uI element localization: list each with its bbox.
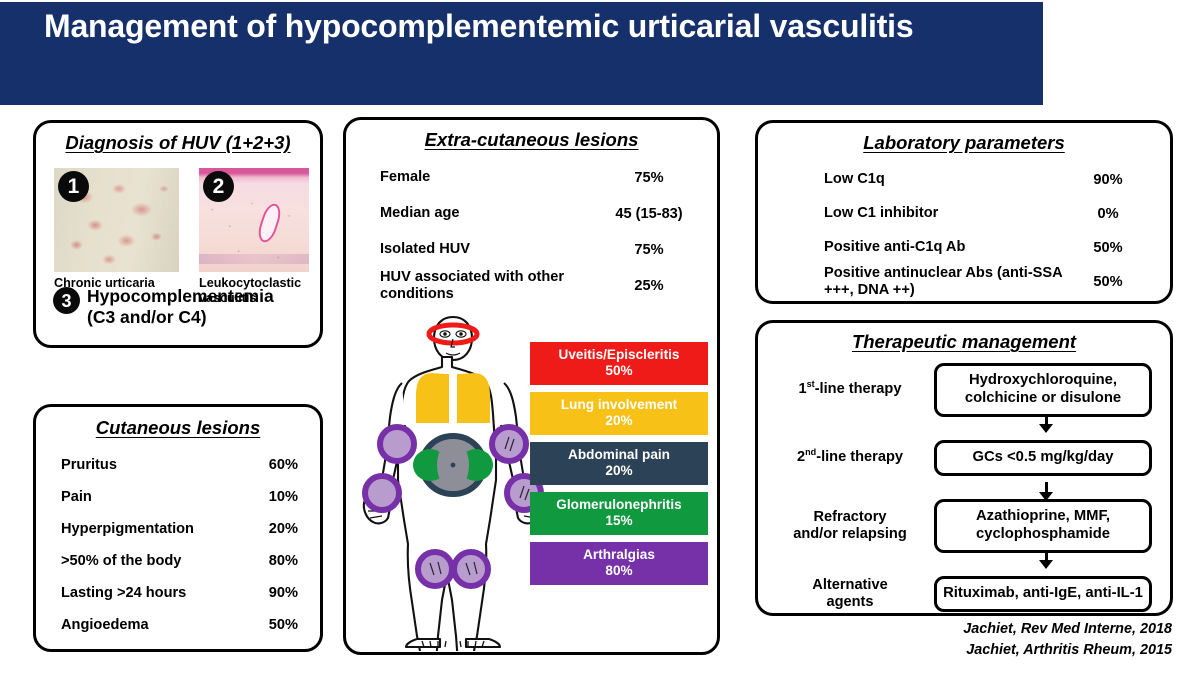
cutaneous-label: Pruritus	[61, 457, 252, 473]
extra-cutaneous-row: Female75%	[346, 160, 717, 196]
leukocytoclastic-vasculitis-photo: 2	[199, 168, 309, 272]
badge-1: 1	[58, 171, 89, 202]
cutaneous-label: >50% of the body	[61, 553, 252, 569]
extra-cutaneous-rows: Female75%Median age45 (15-83)Isolated HU…	[346, 160, 717, 304]
hypocomplementemia-line2: (C3 and/or C4)	[87, 307, 207, 327]
flow-arrow-icon	[758, 487, 1170, 497]
laboratory-label: Positive antinuclear Abs (anti-SSA +++, …	[824, 265, 1080, 299]
extra-cutaneous-value: 45 (15-83)	[603, 206, 695, 222]
citation-line-2: Jachiet, Arthritis Rheum, 2015	[963, 640, 1172, 661]
therapy-step: 1st-line therapyHydroxychloroquine, colc…	[758, 361, 1170, 419]
legend-lungs: Lung involvement20%	[530, 392, 708, 435]
laboratory-value: 50%	[1080, 240, 1136, 256]
therapy-step-label: Alternativeagents	[758, 577, 934, 611]
infiltrate-band	[199, 254, 309, 263]
laboratory-label: Low C1 inhibitor	[824, 205, 1080, 222]
therapy-treatment-box: Hydroxychloroquine, colchicine or disulo…	[934, 363, 1152, 417]
therapy-treatment-box: Rituximab, anti-IgE, anti-IL-1	[934, 576, 1152, 612]
legend-label: Lung involvement	[561, 397, 677, 412]
logo-panel: FVSG FRENCH VASCULITIS STUDY GROUP	[1043, 0, 1200, 107]
cutaneous-row: Pain10%	[36, 481, 320, 513]
cutaneous-row: Angioedema50%	[36, 609, 320, 641]
cutaneous-row: Lasting >24 hours90%	[36, 577, 320, 609]
therapy-step-label: 2nd-line therapy	[758, 449, 934, 466]
cutaneous-row: Pruritus60%	[36, 449, 320, 481]
diagnosis-card: Diagnosis of HUV (1+2+3) 1 Chronic urtic…	[33, 120, 323, 348]
laboratory-row: Low C1 inhibitor0%	[758, 197, 1170, 231]
legend-joints: Arthralgias80%	[530, 542, 708, 585]
legend-abdomen: Abdominal pain20%	[530, 442, 708, 485]
extra-cutaneous-row: HUV associated with other conditions25%	[346, 268, 717, 304]
therapy-title: Therapeutic management	[758, 331, 1170, 353]
laboratory-row: Low C1q90%	[758, 163, 1170, 197]
cutaneous-rows: Pruritus60%Pain10%Hyperpigmentation20%>5…	[36, 449, 320, 641]
therapy-step: Refractoryand/or relapsingAzathioprine, …	[758, 497, 1170, 555]
therapeutic-management-card: Therapeutic management 1st-line therapyH…	[755, 320, 1173, 616]
extra-cutaneous-card: Extra-cutaneous lesions Female75%Median …	[343, 117, 720, 655]
vessel-icon	[255, 202, 284, 245]
cutaneous-value: 90%	[252, 585, 298, 601]
body-diagram	[360, 313, 546, 651]
cutaneous-value: 60%	[252, 457, 298, 473]
therapy-step: 2nd-line therapyGCs <0.5 mg/kg/day	[758, 429, 1170, 487]
legend-label: Uveitis/Episcleritis	[559, 347, 680, 362]
legend-label: Glomerulonephritis	[556, 497, 681, 512]
flow-arrow-icon	[758, 419, 1170, 429]
therapy-flow: 1st-line therapyHydroxychloroquine, colc…	[758, 361, 1170, 623]
therapy-treatment-box: Azathioprine, MMF, cyclophosphamide	[934, 499, 1152, 553]
cutaneous-row: Hyperpigmentation20%	[36, 513, 320, 545]
diagnosis-item-1: 1 Chronic urticaria	[54, 168, 179, 291]
laboratory-label: Low C1q	[824, 171, 1080, 188]
legend-value: 20%	[534, 463, 704, 479]
cutaneous-label: Lasting >24 hours	[61, 585, 252, 601]
cutaneous-label: Hyperpigmentation	[61, 521, 252, 537]
extra-cutaneous-label: Female	[380, 169, 603, 186]
therapy-step-label: Refractoryand/or relapsing	[758, 509, 934, 543]
extra-cutaneous-title: Extra-cutaneous lesions	[346, 129, 717, 151]
laboratory-parameters-card: Laboratory parameters Low C1q90%Low C1 i…	[755, 120, 1173, 304]
extra-cutaneous-value: 75%	[603, 170, 695, 186]
legend-label: Arthralgias	[583, 547, 655, 562]
citation-line-1: Jachiet, Rev Med Interne, 2018	[963, 619, 1172, 640]
cutaneous-lesions-card: Cutaneous lesions Pruritus60%Pain10%Hype…	[33, 404, 323, 652]
legend-value: 15%	[534, 513, 704, 529]
hypocomplementemia-line1: Hypocomplementemia	[87, 286, 274, 306]
flow-arrow-icon	[758, 555, 1170, 565]
cutaneous-title: Cutaneous lesions	[36, 417, 320, 439]
organ-legend: Uveitis/Episcleritis50%Lung involvement2…	[530, 342, 708, 592]
extra-cutaneous-value: 25%	[603, 278, 695, 294]
legend-kidneys: Glomerulonephritis15%	[530, 492, 708, 535]
extra-cutaneous-value: 75%	[603, 242, 695, 258]
cutaneous-value: 10%	[252, 489, 298, 505]
chronic-urticaria-photo: 1	[54, 168, 179, 272]
extra-cutaneous-row: Isolated HUV75%	[346, 232, 717, 268]
laboratory-row: Positive antinuclear Abs (anti-SSA +++, …	[758, 265, 1170, 299]
cutaneous-value: 50%	[252, 617, 298, 633]
badge-3: 3	[53, 287, 80, 314]
extra-cutaneous-label: HUV associated with other conditions	[380, 269, 603, 303]
laboratory-value: 50%	[1080, 274, 1136, 290]
cutaneous-value: 20%	[252, 521, 298, 537]
laboratory-value: 90%	[1080, 172, 1136, 188]
infographic-page: Management of hypocomplementemic urticar…	[0, 0, 1200, 675]
laboratory-label: Positive anti-C1q Ab	[824, 239, 1080, 256]
legend-value: 50%	[534, 363, 704, 379]
diagnosis-item-3: 3 Hypocomplementemia (C3 and/or C4)	[53, 286, 274, 329]
cutaneous-value: 80%	[252, 553, 298, 569]
extra-cutaneous-row: Median age45 (15-83)	[346, 196, 717, 232]
legend-value: 20%	[534, 413, 704, 429]
cutaneous-label: Angioedema	[61, 617, 252, 633]
cutaneous-label: Pain	[61, 489, 252, 505]
laboratory-row: Positive anti-C1q Ab50%	[758, 231, 1170, 265]
page-title: Management of hypocomplementemic urticar…	[44, 8, 1004, 46]
extra-cutaneous-label: Median age	[380, 205, 603, 222]
legend-label: Abdominal pain	[568, 447, 670, 462]
therapy-step: AlternativeagentsRituximab, anti-IgE, an…	[758, 565, 1170, 623]
badge-2: 2	[203, 171, 234, 202]
laboratory-rows: Low C1q90%Low C1 inhibitor0%Positive ant…	[758, 163, 1170, 299]
cutaneous-row: >50% of the body80%	[36, 545, 320, 577]
diagnosis-title: Diagnosis of HUV (1+2+3)	[36, 132, 320, 154]
hypocomplementemia-text: Hypocomplementemia (C3 and/or C4)	[87, 286, 274, 329]
legend-value: 80%	[534, 563, 704, 579]
therapy-treatment-box: GCs <0.5 mg/kg/day	[934, 440, 1152, 476]
laboratory-title: Laboratory parameters	[758, 132, 1170, 154]
legend-eyes: Uveitis/Episcleritis50%	[530, 342, 708, 385]
laboratory-value: 0%	[1080, 206, 1136, 222]
extra-cutaneous-label: Isolated HUV	[380, 241, 603, 258]
header-banner: Management of hypocomplementemic urticar…	[0, 2, 1043, 105]
citations: Jachiet, Rev Med Interne, 2018 Jachiet, …	[963, 619, 1172, 661]
therapy-step-label: 1st-line therapy	[758, 381, 934, 398]
